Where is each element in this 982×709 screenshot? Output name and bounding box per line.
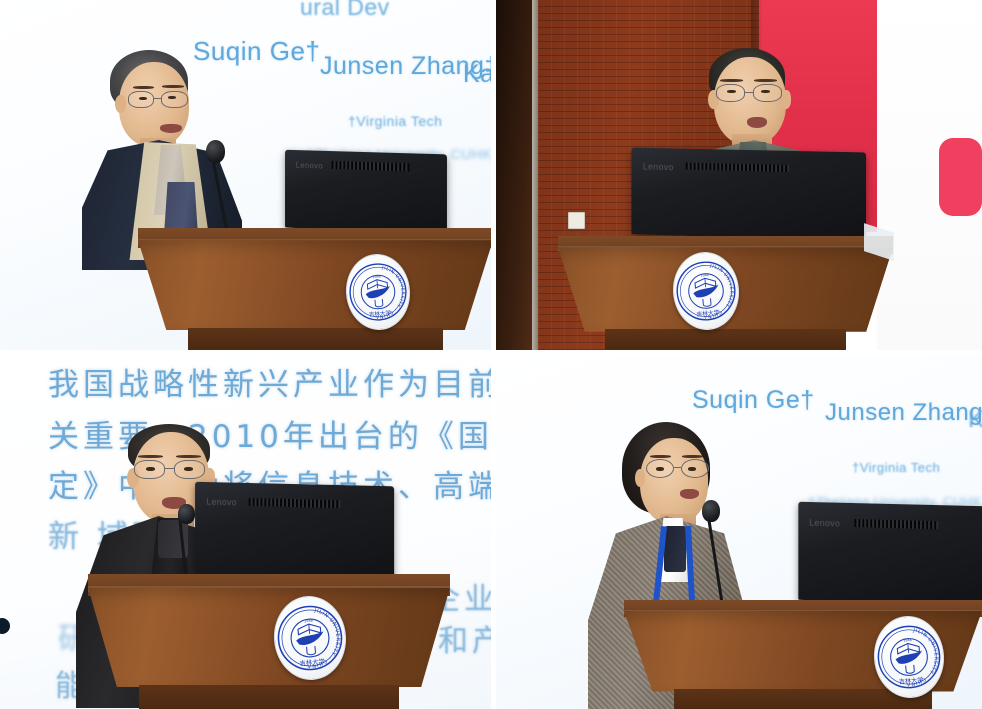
glasses [134,460,206,481]
lectern: 1946 吉林大学 JILIN UNIVERSITY · CHINA [558,236,893,350]
laptop-brand-label: Lenovo [643,162,674,173]
svg-text:1946: 1946 [700,273,708,278]
slide-line-author-2: Junsen Zhang‡ [825,399,982,427]
photo-top-left[interactable]: ural Dev Suqin Ge† Junsen Zhang‡ Kan †Vi… [0,0,491,350]
lectern: 1946 吉林大学 JILIN UNIVERSITY · CHINA [88,574,450,709]
photo-top-right[interactable]: Lenovo 1946 吉林大学 [496,0,982,350]
glasses [128,91,190,110]
jilin-university-seal: 1946 吉林大学 JILIN UNIVERSITY · CHINA [270,593,349,683]
laptop-brand-label: Lenovo [809,518,840,529]
laptop[interactable]: Lenovo [632,148,867,243]
slide-line-affiliation-1: †Virginia Tech [348,113,442,129]
slide-line-author-3: Kan [463,60,491,89]
photo-bottom-left[interactable]: 我国战略性新兴产业作为目前及未来 关重要。2010年出台的《国务院关 定》中明确… [0,356,491,709]
photo-collage: ural Dev Suqin Ge† Junsen Zhang‡ Kan †Vi… [0,0,982,709]
slide-line-affiliation-1: †Virginia Tech [852,460,940,475]
laptop[interactable]: Lenovo [798,502,982,609]
lectern: 1946 吉林大学 JILIN UNIVERSITY · CHINA [624,600,982,709]
jilin-university-seal: 1946 吉林大学 JILIN UNIVERSITY · CHINA [343,251,413,332]
microphone-head [702,500,720,522]
lectern: 1946 吉林大学 JILIN UNIVERSITY · CHINA [138,228,491,350]
laptop-brand-label: Lenovo [296,161,323,171]
laptop[interactable]: Lenovo [285,150,447,237]
slide-line-partial-top: ural Dev [300,0,390,21]
laptop[interactable]: Lenovo [195,482,394,583]
slide-line-cn-1: 我国战略性新兴产业作为目前及未来 [48,359,491,404]
microphone-head [178,504,195,524]
dark-scarf [664,526,686,572]
wall-power-socket [568,212,585,229]
laptop-brand-label: Lenovo [206,497,237,508]
glasses [716,84,784,104]
slide-line-author-1: Suqin Ge† [692,386,815,415]
svg-text:1946: 1946 [373,274,381,279]
slide-line-cn-2: 关重要。2010年出台的《国务院关 [48,411,491,456]
svg-text:1946: 1946 [304,619,313,624]
photo-bottom-right[interactable]: Suqin Ge† Junsen Zhang‡ K †Virginia Tech… [496,356,982,709]
red-accent-chip [939,138,982,216]
ear [115,95,126,113]
svg-text:1946: 1946 [903,638,912,643]
head [640,438,708,524]
slide-line-author-1: Suqin Ge† [193,36,320,67]
jilin-university-seal: 1946 吉林大学 JILIN UNIVERSITY · CHINA [670,249,743,332]
jilin-university-seal: 1946 吉林大学 JILIN UNIVERSITY · CHINA [871,613,948,701]
microphone-head [206,140,225,163]
slide-line-author-3: K [968,406,982,434]
